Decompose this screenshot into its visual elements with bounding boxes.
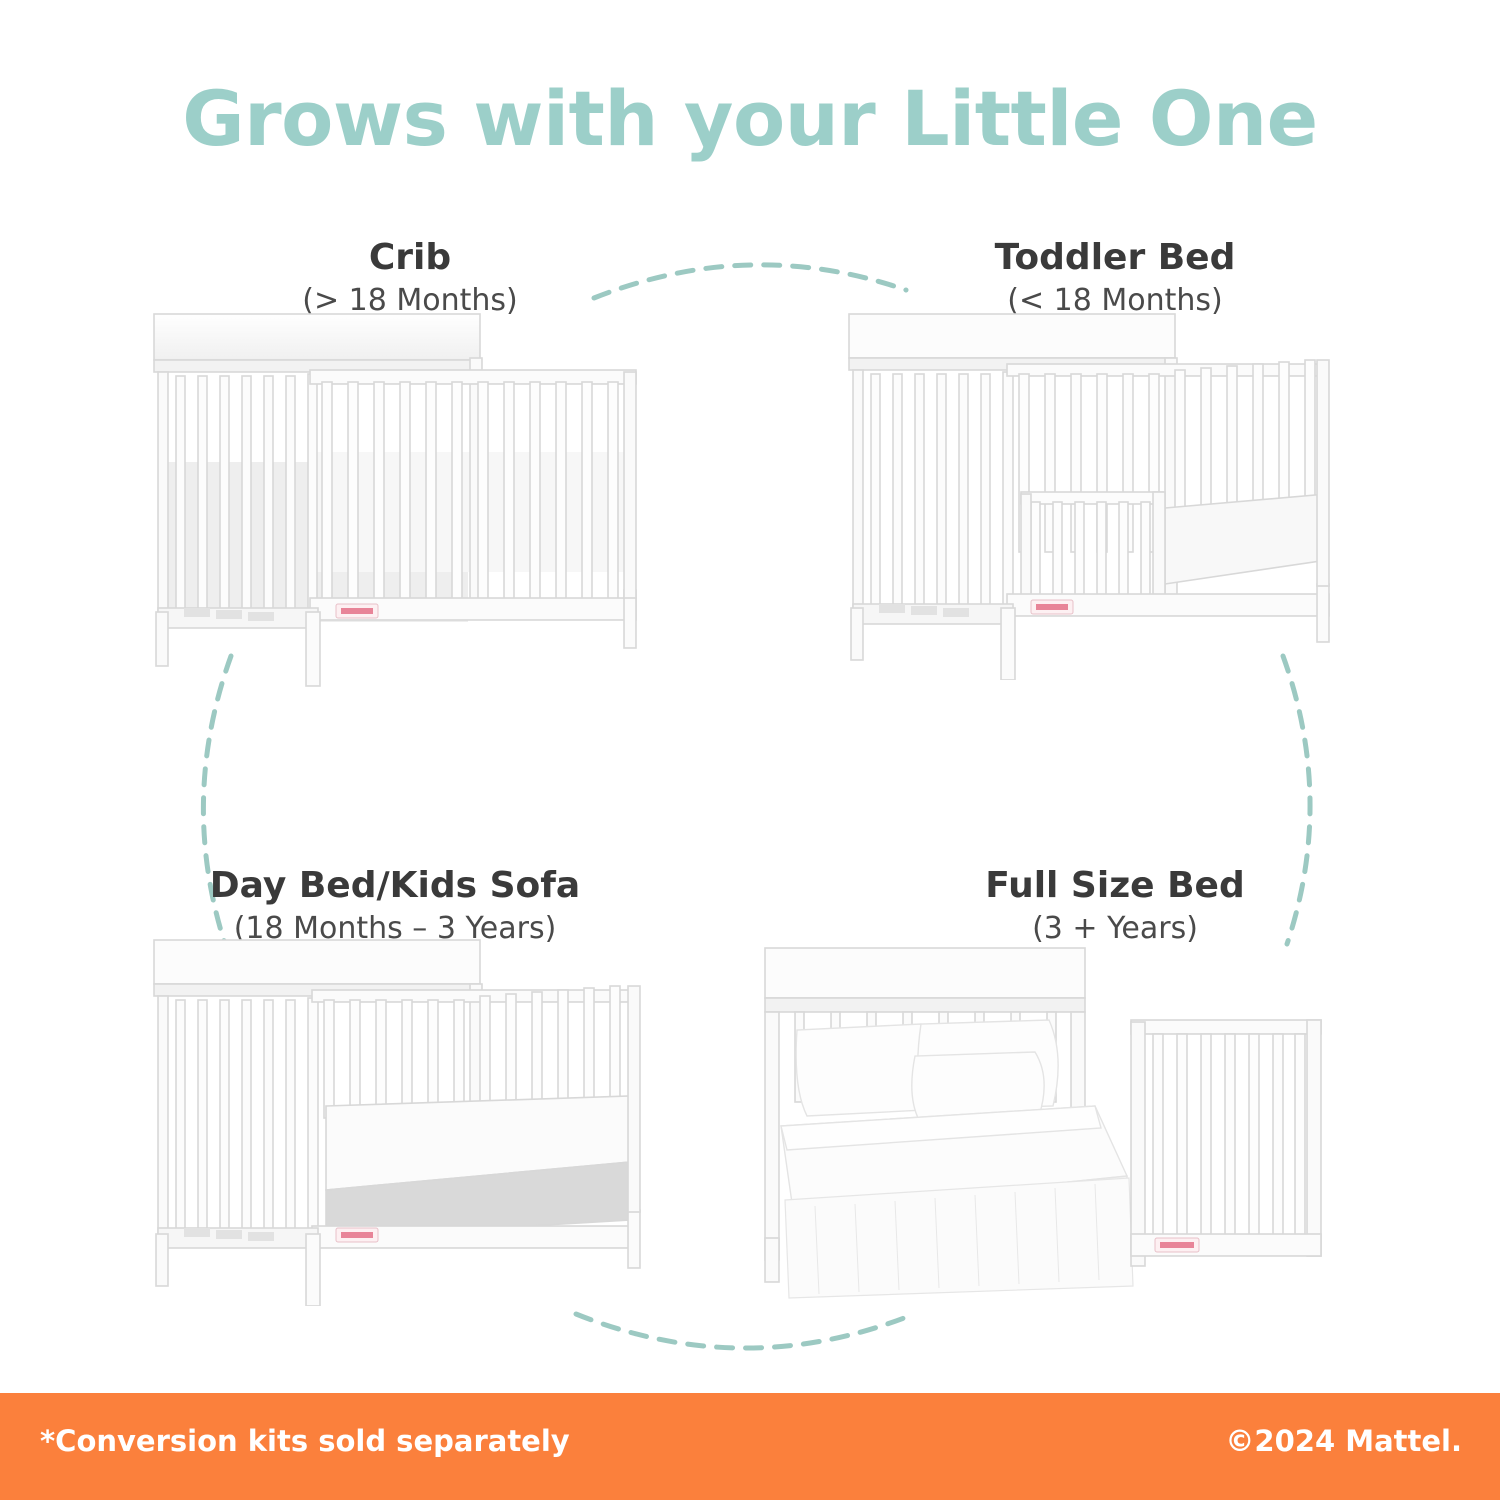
panel-title-full-size-bed: Full Size Bed [855, 866, 1375, 906]
footer-disclaimer: *Conversion kits sold separately [40, 1424, 570, 1458]
product-image-toddler-bed [835, 312, 1355, 680]
footer-copyright: ©2024 Mattel. [1225, 1424, 1462, 1458]
panel-title-day-bed: Day Bed/Kids Sofa [135, 866, 655, 906]
infographic-canvas: Grows with your Little One Crib (> 18 Mo… [0, 0, 1500, 1500]
label-day-bed: Day Bed/Kids Sofa (18 Months – 3 Years) [135, 866, 655, 947]
product-image-full-size-bed [735, 938, 1355, 1310]
label-crib: Crib (> 18 Months) [150, 238, 670, 319]
label-toddler-bed: Toddler Bed (< 18 Months) [855, 238, 1375, 319]
panel-title-toddler-bed: Toddler Bed [855, 238, 1375, 278]
product-image-day-bed [140, 938, 680, 1306]
panel-title-crib: Crib [150, 238, 670, 278]
product-image-crib [140, 312, 660, 702]
label-full-size-bed: Full Size Bed (3 + Years) [855, 866, 1375, 947]
page-title: Grows with your Little One [0, 74, 1500, 163]
